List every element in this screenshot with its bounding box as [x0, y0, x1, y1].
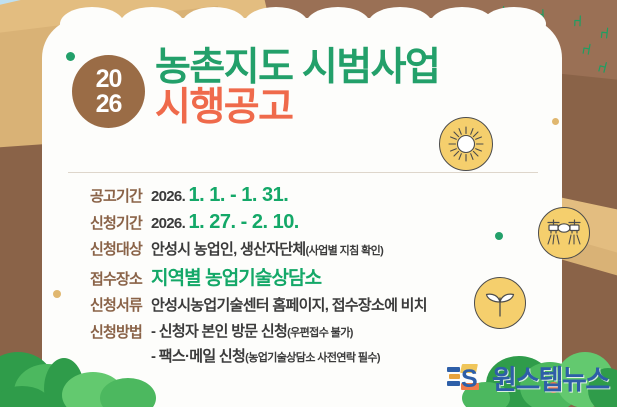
info-row-prefix: 안성시농업기술센터 홈페이지, 접수장소에 비치	[151, 297, 427, 314]
info-row-highlight: 지역별 농업기술상담소	[151, 268, 321, 289]
sun-icon	[439, 117, 493, 171]
poster-title: 농촌지도 시범사업 시행공고	[155, 49, 439, 127]
info-row-label: 신청대상	[66, 238, 142, 259]
logo-mark-icon: S	[447, 363, 491, 393]
info-row: 공고기간 2026. 1. 1. - 1. 31.	[66, 184, 546, 207]
method-lines: - 신청자 본인 방문 신청(우편접수 불가) - 팩스·메일 신청(농업기술상…	[151, 320, 380, 370]
info-row: 접수장소 지역별 농업기술상담소	[66, 263, 546, 290]
method-line-note: (농업기술상담소 사전연락 필수)	[245, 352, 380, 364]
info-row-prefix: 안성시 농업인, 생산자단체	[151, 241, 306, 258]
info-row-prefix: 2026.	[151, 188, 185, 205]
logo-s-icon: S	[459, 363, 485, 393]
info-row-highlight: 1. 1. - 1. 31.	[189, 184, 289, 206]
info-row-prefix: 2026.	[151, 215, 185, 232]
decor-dot-tan	[53, 290, 61, 298]
svg-text:S: S	[461, 365, 478, 393]
decor-dot-green	[66, 52, 75, 61]
info-row: 신청대상 안성시 농업인, 생산자단체(사업별 지침 확인)	[66, 238, 546, 259]
info-row-label: 신청기간	[66, 212, 142, 233]
info-row-note: (사업별 지침 확인)	[306, 245, 384, 257]
year-badge-line1: 20	[96, 67, 122, 91]
info-row-value: 지역별 농업기술상담소	[151, 263, 321, 290]
method-line-main: - 신청자 본인 방문 신청	[151, 323, 287, 340]
grass-tuft-icon: ⑁	[599, 26, 610, 42]
drone-icon-glyph	[544, 215, 584, 251]
method-line-note: (우편접수 불가)	[287, 327, 353, 339]
info-row-label: 신청서류	[66, 294, 142, 315]
info-row-value: 2026. 1. 27. - 2. 10.	[151, 211, 299, 234]
info-row-value: 2026. 1. 1. - 1. 31.	[151, 184, 288, 207]
poster-canvas: ⑁ ⑁ ⑁ ⑁ ⑁ ⑁ ⑁ ⑁ ⑁ ⑁ 20 26 농촌지도 시범사업 시행공고…	[0, 0, 617, 407]
title-line-1: 농촌지도 시범사업	[155, 49, 439, 87]
info-row-label: 신청방법	[66, 320, 142, 342]
logo-text: 원스텝뉴스	[492, 358, 609, 397]
method-line-main: - 팩스·메일 신청	[151, 348, 245, 365]
decor-dot-tan	[552, 118, 559, 125]
year-badge: 20 26	[72, 55, 145, 128]
logo[interactable]: S 원스텝뉴스	[447, 358, 609, 397]
grass-tuft-icon: ⑁	[573, 14, 583, 29]
method-line: - 팩스·메일 신청(농업기술상담소 사전연락 필수)	[151, 345, 380, 366]
title-line-2: 시행공고	[155, 89, 439, 127]
info-row-label: 공고기간	[66, 185, 142, 206]
drone-icon	[538, 207, 590, 259]
info-rows: 공고기간 2026. 1. 1. - 1. 31. 신청기간 2026. 1. …	[66, 184, 546, 370]
header-divider	[68, 172, 538, 173]
method-line: - 신청자 본인 방문 신청(우편접수 불가)	[151, 320, 380, 341]
info-row-value: 안성시 농업인, 생산자단체(사업별 지침 확인)	[151, 238, 383, 259]
info-row: 신청기간 2026. 1. 27. - 2. 10.	[66, 211, 546, 234]
year-badge-line2: 26	[96, 92, 122, 116]
info-row-label: 접수장소	[66, 268, 142, 289]
info-row-highlight: 1. 27. - 2. 10.	[189, 211, 299, 233]
sprout-icon	[474, 277, 526, 329]
sprout-icon-glyph	[481, 284, 519, 322]
info-row-value: 안성시농업기술센터 홈페이지, 접수장소에 비치	[151, 294, 427, 315]
sun-icon-glyph	[446, 124, 486, 164]
